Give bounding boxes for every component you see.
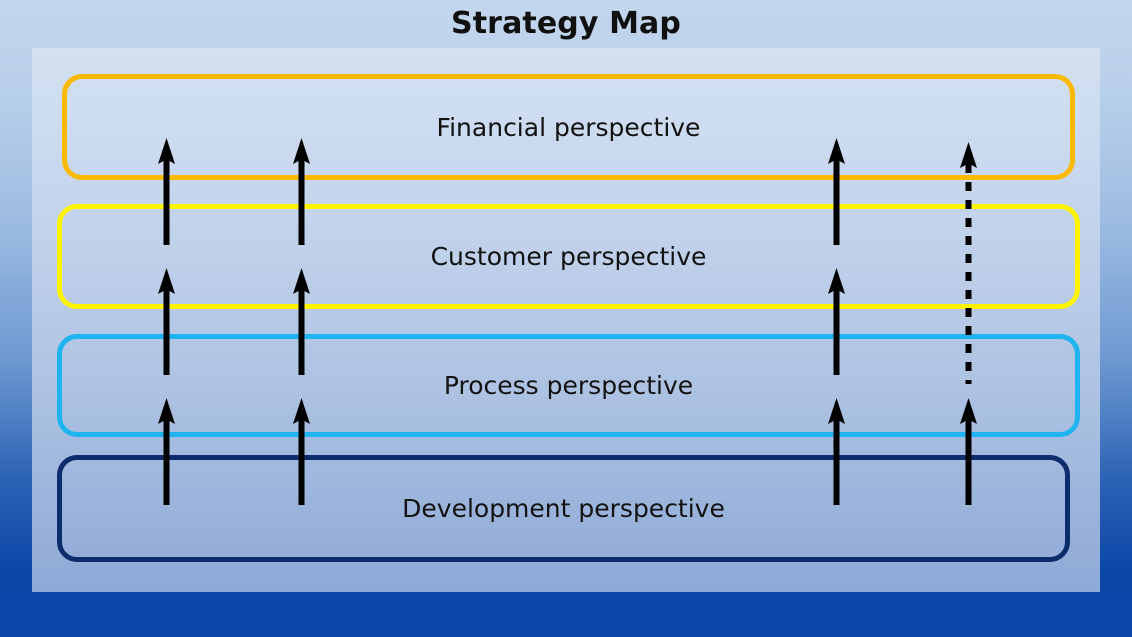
band-process-perspective[interactable]: Process perspective — [57, 334, 1080, 437]
band-customer-label: Customer perspective — [431, 244, 707, 269]
page-title: Strategy Map — [0, 4, 1132, 44]
band-development-perspective[interactable]: Development perspective — [57, 455, 1070, 562]
band-development-label: Development perspective — [402, 496, 725, 521]
band-process-label: Process perspective — [444, 373, 693, 398]
band-financial-label: Financial perspective — [437, 115, 701, 140]
strategy-map-slide: Strategy Map Financial perspective Custo… — [0, 0, 1132, 637]
diagram-panel: Financial perspective Customer perspecti… — [32, 48, 1100, 592]
band-financial-perspective[interactable]: Financial perspective — [62, 74, 1075, 180]
band-customer-perspective[interactable]: Customer perspective — [57, 204, 1080, 309]
